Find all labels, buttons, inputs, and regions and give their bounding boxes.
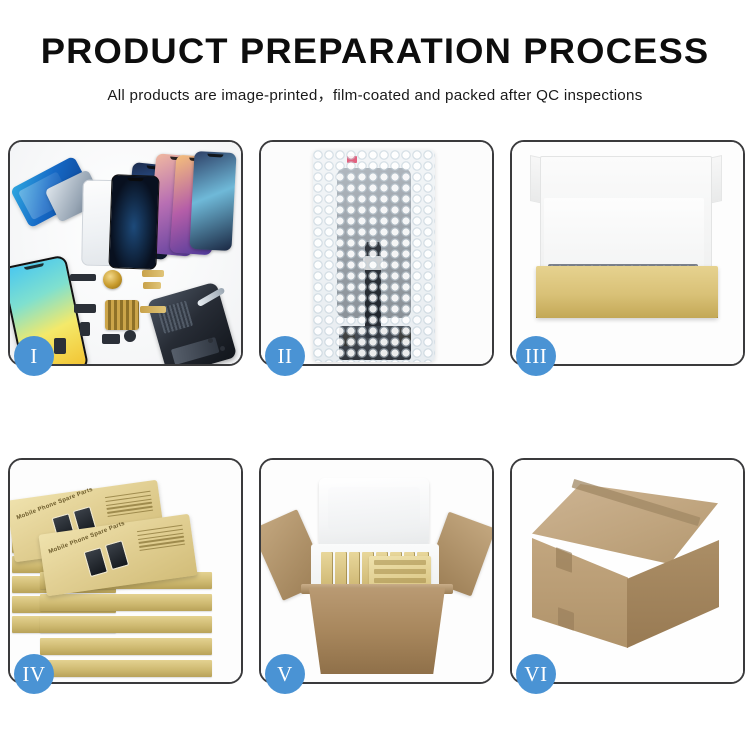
carton-left-face-icon bbox=[532, 538, 628, 648]
phone-back-housing-icon bbox=[147, 282, 238, 364]
bubble-texture-icon bbox=[313, 150, 435, 362]
speaker-icon bbox=[102, 334, 120, 344]
step-6-image bbox=[512, 460, 743, 682]
button-icon bbox=[124, 330, 136, 342]
flex-cable-1-icon bbox=[142, 270, 164, 277]
step-badge-6: VI bbox=[516, 654, 556, 694]
box-side-r4 bbox=[40, 638, 212, 655]
sim-tray-icon bbox=[54, 338, 66, 354]
process-step-card-2: II bbox=[259, 140, 494, 366]
page-header: PRODUCT PREPARATION PROCESS All products… bbox=[0, 0, 750, 105]
phone-display-front-icon bbox=[108, 174, 159, 270]
box-side-r5 bbox=[40, 660, 212, 677]
camera-module-icon bbox=[80, 322, 90, 336]
box-spec-lines-front bbox=[137, 525, 186, 554]
process-step-card-6: VI bbox=[510, 458, 745, 684]
carton-body-icon bbox=[303, 588, 451, 674]
screw-1-icon bbox=[208, 338, 213, 343]
process-step-card-1: I bbox=[8, 140, 243, 366]
box-side-r2 bbox=[40, 594, 212, 611]
step-4-image: Mobile Phone Spare Parts Mobile Phone Sp… bbox=[10, 460, 241, 682]
flex-cable-3-icon bbox=[140, 306, 166, 313]
step-badge-3: III bbox=[516, 336, 556, 376]
component-bar-icon bbox=[70, 274, 96, 281]
gold-box-tray-icon bbox=[536, 266, 718, 318]
bubble-wrap-bag-icon bbox=[313, 150, 435, 362]
box-spec-lines-back bbox=[105, 491, 154, 520]
step-5-image bbox=[261, 460, 492, 682]
process-step-card-4: Mobile Phone Spare Parts Mobile Phone Sp… bbox=[8, 458, 243, 684]
phone-display-4-icon bbox=[189, 151, 236, 251]
chip-array-icon bbox=[105, 300, 139, 330]
step-2-image bbox=[261, 142, 492, 364]
foam-lid-icon bbox=[319, 478, 429, 546]
step-badge-4: IV bbox=[14, 654, 54, 694]
box-side-r3 bbox=[40, 616, 212, 633]
step-3-image bbox=[512, 142, 743, 364]
box-thumb-4-icon bbox=[105, 540, 129, 570]
process-step-grid: I II bbox=[8, 140, 742, 684]
step-1-image bbox=[10, 142, 241, 364]
screw-2-icon bbox=[220, 346, 225, 351]
step-badge-1: I bbox=[14, 336, 54, 376]
process-step-card-3: III bbox=[510, 140, 745, 366]
copper-coil-icon bbox=[103, 270, 122, 289]
connector-icon bbox=[74, 304, 96, 313]
page-subtitle: All products are image-printed，film-coat… bbox=[0, 83, 750, 105]
step-badge-5: V bbox=[265, 654, 305, 694]
process-step-card-5: V bbox=[259, 458, 494, 684]
page-title: PRODUCT PREPARATION PROCESS bbox=[0, 34, 750, 69]
box-thumb-3-icon bbox=[84, 547, 108, 577]
flex-cable-2-icon bbox=[143, 282, 161, 289]
step-badge-2: II bbox=[265, 336, 305, 376]
